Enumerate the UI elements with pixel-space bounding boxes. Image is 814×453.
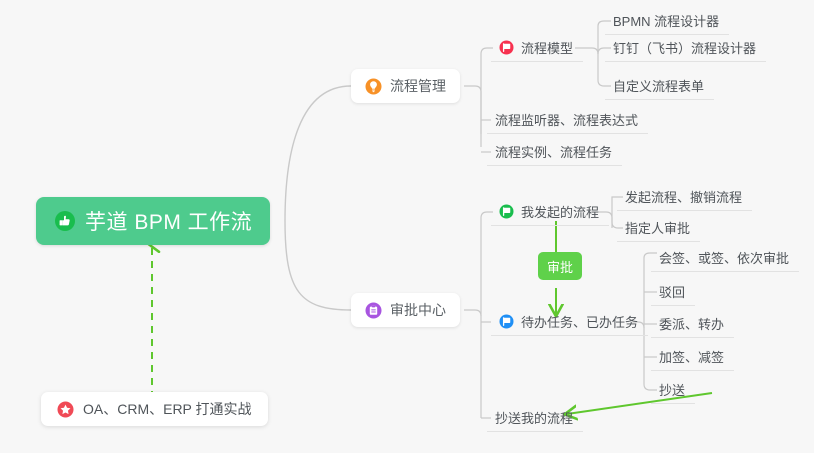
root-label: 芋道 BPM 工作流 [85,206,252,236]
branch-label-process-management: 流程管理 [390,76,446,96]
node-bpmn-designer[interactable]: BPMN 流程设计器 [605,7,729,35]
node-process-listener-expression[interactable]: 流程监听器、流程表达式 [487,106,648,134]
node-label-todo-done-tasks: 待办任务、已办任务 [521,312,638,331]
node-label-countersign-orsign-sequential: 会签、或签、依次审批 [659,248,789,267]
node-label-assignee-approval: 指定人审批 [625,218,690,237]
node-start-cancel-process[interactable]: 发起流程、撤销流程 [617,183,752,211]
node-label-bpmn-designer: BPMN 流程设计器 [613,11,719,30]
node-delegate-transfer[interactable]: 委派、转办 [651,310,734,338]
clipboard-icon [365,302,382,319]
node-countersign-orsign-sequential[interactable]: 会签、或签、依次审批 [651,244,799,272]
node-label-dingtalk-feishu-designer: 钉钉（飞书）流程设计器 [613,38,756,57]
flag-blue-icon [499,314,514,329]
node-label-process-model: 流程模型 [521,38,573,57]
node-reject[interactable]: 驳回 [651,278,695,306]
node-label-delegate-transfer: 委派、转办 [659,314,724,333]
node-label-start-cancel-process: 发起流程、撤销流程 [625,187,742,206]
tag-label-approval: 审批 [547,257,573,276]
branch-node-approval-center[interactable]: 审批中心 [351,293,460,327]
node-custom-process-form[interactable]: 自定义流程表单 [605,72,714,100]
branch-node-process-management[interactable]: 流程管理 [351,69,460,103]
node-add-remove-sign[interactable]: 加签、减签 [651,343,734,371]
flag-red-icon [499,40,514,55]
node-label-reject: 驳回 [659,282,685,301]
node-label-my-started-processes: 我发起的流程 [521,202,599,221]
node-assignee-approval[interactable]: 指定人审批 [617,214,700,242]
flag-green-icon [499,204,514,219]
root-node[interactable]: 芋道 BPM 工作流 [36,197,270,245]
node-process-instance-task[interactable]: 流程实例、流程任务 [487,138,622,166]
tag-node-approval[interactable]: 审批 [538,252,582,280]
node-dingtalk-feishu-designer[interactable]: 钉钉（飞书）流程设计器 [605,34,766,62]
node-label-process-instance-task: 流程实例、流程任务 [495,142,612,161]
star-icon [57,401,74,418]
mindmap-canvas: 芋道 BPM 工作流 OA、CRM、ERP 打通实战 流程管理 [0,0,814,453]
thumbs-up-icon [54,210,76,232]
node-label-process-listener-expression: 流程监听器、流程表达式 [495,110,638,129]
node-cc-to-me-processes[interactable]: 抄送我的流程 [487,404,583,432]
node-my-started-processes[interactable]: 我发起的流程 [491,198,609,226]
node-label-add-remove-sign: 加签、减签 [659,347,724,366]
note-label: OA、CRM、ERP 打通实战 [83,399,252,419]
node-todo-done-tasks[interactable]: 待办任务、已办任务 [491,308,648,336]
node-label-cc: 抄送 [659,380,685,399]
node-label-cc-to-me-processes: 抄送我的流程 [495,408,573,427]
note-node-integration[interactable]: OA、CRM、ERP 打通实战 [41,392,268,426]
node-cc[interactable]: 抄送 [651,376,695,404]
node-label-custom-process-form: 自定义流程表单 [613,76,704,95]
node-process-model[interactable]: 流程模型 [491,34,583,62]
branch-label-approval-center: 审批中心 [390,300,446,320]
lightbulb-icon [365,78,382,95]
